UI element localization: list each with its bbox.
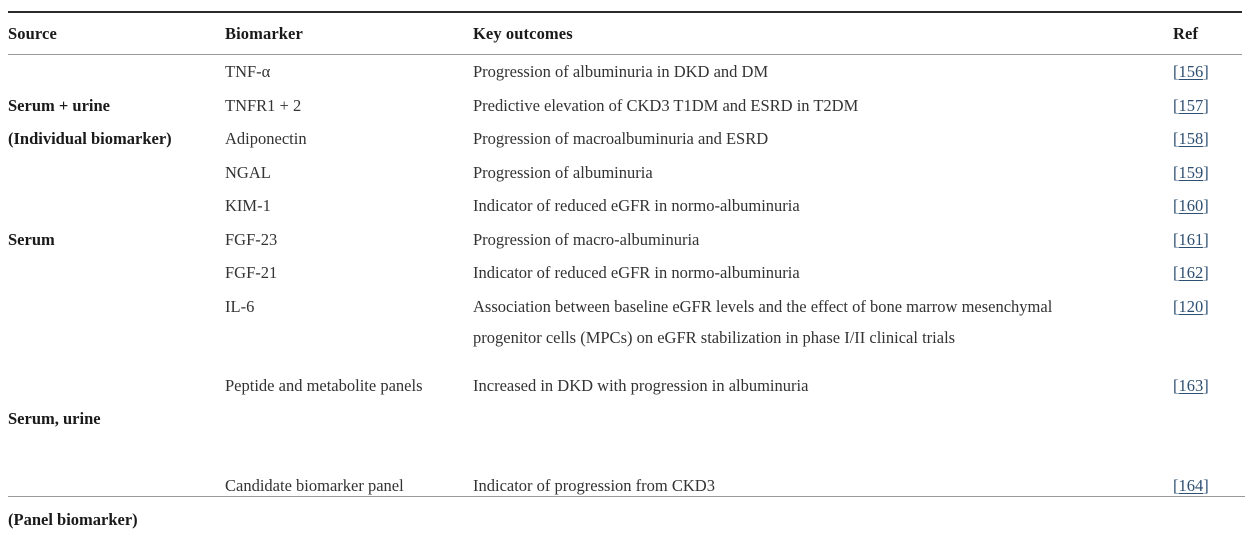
spacer-cell (473, 352, 1173, 369)
column-header-ref: Ref (1173, 12, 1242, 55)
bracket-close: ] (1203, 129, 1209, 148)
bracket-close: ] (1203, 196, 1209, 215)
source-cell (8, 369, 225, 403)
source-cell (8, 189, 225, 223)
ref-cell: [156] (1173, 55, 1242, 89)
spacer-cell (473, 436, 1173, 470)
ref-cell: [157] (1173, 89, 1242, 123)
source-cell (8, 290, 225, 352)
ref-number: 120 (1179, 297, 1204, 316)
biomarker-cell: TNF-α (225, 55, 473, 89)
ref-number: 164 (1179, 476, 1204, 495)
table-row: Serum + urine TNFR1 + 2 Predictive eleva… (8, 89, 1242, 123)
ref-cell: [162] (1173, 256, 1242, 290)
biomarker-cell: KIM-1 (225, 189, 473, 223)
table-row: (Individual biomarker) Adiponectin Progr… (8, 122, 1242, 156)
spacer-cell (8, 352, 225, 369)
table-bottom-rule (8, 496, 1245, 497)
spacer-row (8, 352, 1242, 369)
spacer-row (8, 436, 1242, 470)
ref-number: 158 (1179, 129, 1204, 148)
column-header-outcome: Key outcomes (473, 12, 1173, 55)
ref-link[interactable]: [159] (1173, 163, 1209, 182)
ref-cell: [163] (1173, 369, 1242, 403)
spacer-cell (225, 352, 473, 369)
spacer-cell (1173, 436, 1242, 470)
empty-cell (1173, 503, 1242, 536)
bracket-close: ] (1203, 62, 1209, 81)
source-group-label-serum-urine: Serum + urine (8, 89, 225, 123)
biomarker-cell: TNFR1 + 2 (225, 89, 473, 123)
outcome-cell: Indicator of reduced eGFR in normo-album… (473, 189, 1173, 223)
source-cell (8, 256, 225, 290)
bracket-close: ] (1203, 163, 1209, 182)
spacer-cell (225, 436, 473, 470)
table-row: Serum FGF-23 Progression of macro-albumi… (8, 223, 1242, 257)
empty-cell (1173, 402, 1242, 436)
outcome-cell: Progression of albuminuria in DKD and DM (473, 55, 1173, 89)
ref-link[interactable]: [163] (1173, 376, 1209, 395)
ref-link[interactable]: [161] (1173, 230, 1209, 249)
biomarker-table: Source Biomarker Key outcomes Ref TNF-α … (8, 11, 1242, 536)
table-row: Candidate biomarker panel Indicator of p… (8, 469, 1242, 503)
outcome-cell: Indicator of reduced eGFR in normo-album… (473, 256, 1173, 290)
outcome-cell: Association between baseline eGFR levels… (473, 290, 1173, 352)
bracket-close: ] (1203, 230, 1209, 249)
bracket-close: ] (1203, 476, 1209, 495)
bracket-close: ] (1203, 297, 1209, 316)
biomarker-cell: FGF-21 (225, 256, 473, 290)
source-group-label-serum-urine-panel: Serum, urine (8, 402, 225, 436)
table-header: Source Biomarker Key outcomes Ref (8, 12, 1242, 55)
source-cell (8, 156, 225, 190)
spacer-cell (8, 436, 225, 470)
bracket-close: ] (1203, 96, 1209, 115)
ref-number: 163 (1179, 376, 1204, 395)
bracket-close: ] (1203, 263, 1209, 282)
biomarker-cell: Adiponectin (225, 122, 473, 156)
biomarker-cell: FGF-23 (225, 223, 473, 257)
ref-link[interactable]: [158] (1173, 129, 1209, 148)
table-row: TNF-α Progression of albuminuria in DKD … (8, 55, 1242, 89)
bracket-close: ] (1203, 376, 1209, 395)
table-container: Source Biomarker Key outcomes Ref TNF-α … (0, 11, 1254, 505)
ref-cell: [161] (1173, 223, 1242, 257)
ref-link[interactable]: [160] (1173, 196, 1209, 215)
outcome-cell: Progression of macro-albuminuria (473, 223, 1173, 257)
empty-cell (473, 402, 1173, 436)
empty-cell (473, 503, 1173, 536)
ref-cell: [160] (1173, 189, 1242, 223)
column-header-biomarker: Biomarker (225, 12, 473, 55)
ref-cell: [164] (1173, 469, 1242, 503)
source-cell (8, 55, 225, 89)
ref-number: 156 (1179, 62, 1204, 81)
ref-number: 159 (1179, 163, 1204, 182)
source-group-label-panel-biomarker: (Panel biomarker) (8, 503, 225, 536)
ref-cell: [158] (1173, 122, 1242, 156)
ref-link[interactable]: [157] (1173, 96, 1209, 115)
ref-link[interactable]: [162] (1173, 263, 1209, 282)
source-group-label-serum: Serum (8, 223, 225, 257)
ref-number: 157 (1179, 96, 1204, 115)
ref-number: 162 (1179, 263, 1204, 282)
table-row: Serum, urine (8, 402, 1242, 436)
table-row: Peptide and metabolite panels Increased … (8, 369, 1242, 403)
table-row: (Panel biomarker) (8, 503, 1242, 536)
ref-number: 160 (1179, 196, 1204, 215)
ref-link[interactable]: [156] (1173, 62, 1209, 81)
biomarker-cell: NGAL (225, 156, 473, 190)
biomarker-cell: IL-6 (225, 290, 473, 352)
table-row: KIM-1 Indicator of reduced eGFR in normo… (8, 189, 1242, 223)
table-row: FGF-21 Indicator of reduced eGFR in norm… (8, 256, 1242, 290)
spacer-cell (1173, 352, 1242, 369)
outcome-cell: Predictive elevation of CKD3 T1DM and ES… (473, 89, 1173, 123)
outcome-cell: Progression of albuminuria (473, 156, 1173, 190)
table-row: IL-6 Association between baseline eGFR l… (8, 290, 1242, 352)
ref-cell: [120] (1173, 290, 1242, 352)
biomarker-cell: Peptide and metabolite panels (225, 369, 473, 403)
biomarker-cell: Candidate biomarker panel (225, 469, 473, 503)
header-row: Source Biomarker Key outcomes Ref (8, 12, 1242, 55)
outcome-cell: Increased in DKD with progression in alb… (473, 369, 1173, 403)
ref-link[interactable]: [164] (1173, 476, 1209, 495)
ref-link[interactable]: [120] (1173, 297, 1209, 316)
outcome-cell: Progression of macroalbuminuria and ESRD (473, 122, 1173, 156)
empty-cell (225, 503, 473, 536)
column-header-source: Source (8, 12, 225, 55)
table-row: NGAL Progression of albuminuria [159] (8, 156, 1242, 190)
outcome-cell: Indicator of progression from CKD3 (473, 469, 1173, 503)
outcome-line-2: progenitor cells (MPCs) on eGFR stabiliz… (473, 321, 1159, 352)
table-body: TNF-α Progression of albuminuria in DKD … (8, 55, 1242, 536)
outcome-line-1: Association between baseline eGFR levels… (473, 290, 1159, 321)
empty-cell (225, 402, 473, 436)
ref-cell: [159] (1173, 156, 1242, 190)
source-cell (8, 469, 225, 503)
ref-number: 161 (1179, 230, 1204, 249)
source-group-label-individual-biomarker: (Individual biomarker) (8, 122, 225, 156)
